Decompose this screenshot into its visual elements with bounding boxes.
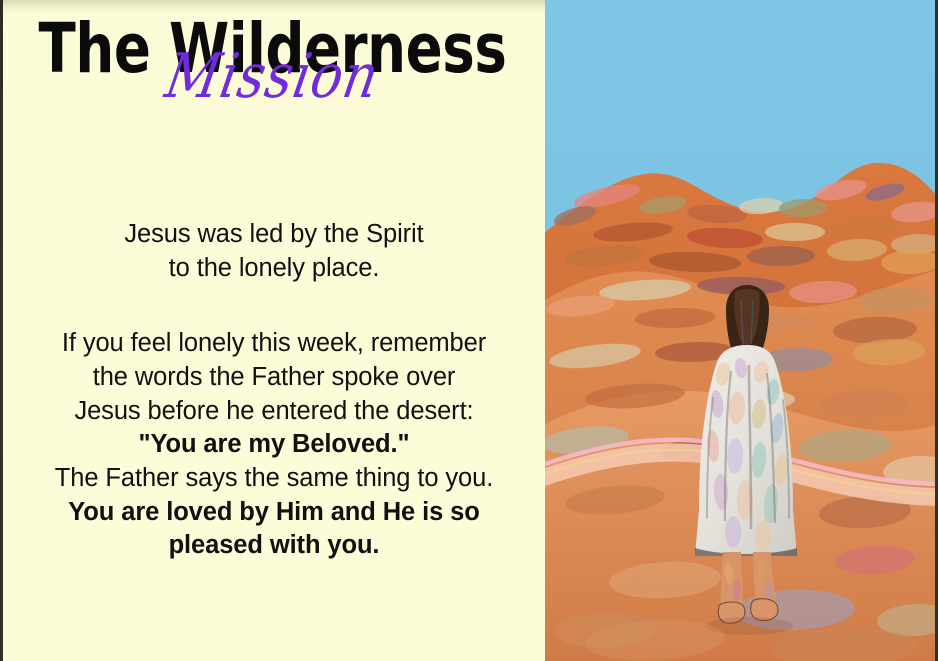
text-line: If you feel lonely this week, remember [3, 327, 545, 361]
desert-illustration [545, 0, 938, 661]
text-line: the words the Father spoke over [3, 361, 545, 395]
text-line-emphasis: You are loved by Him and He is so [3, 496, 545, 530]
page-subtitle-script: Mission [0, 47, 550, 108]
title-block: The Wilderness Mission [0, 18, 545, 103]
text-line: Jesus before he entered the desert: [3, 395, 545, 429]
text-line: The Father says the same thing to you. [3, 462, 545, 496]
text-line-emphasis: "You are my Beloved." [3, 428, 545, 462]
paragraph-scripture: Jesus was led by the Spirit to the lonel… [3, 218, 545, 285]
desert-illustration-svg [545, 0, 938, 661]
text-line: Jesus was led by the Spirit [3, 218, 545, 252]
slide-root: The Wilderness Mission Jesus was led by … [0, 0, 938, 661]
text-line-emphasis: pleased with you. [3, 529, 545, 563]
paragraph-reflection: If you feel lonely this week, remember t… [3, 327, 545, 563]
text-line: to the lonely place. [3, 252, 545, 286]
text-panel: The Wilderness Mission Jesus was led by … [0, 0, 545, 661]
body-text-block: Jesus was led by the Spirit to the lonel… [3, 218, 545, 563]
